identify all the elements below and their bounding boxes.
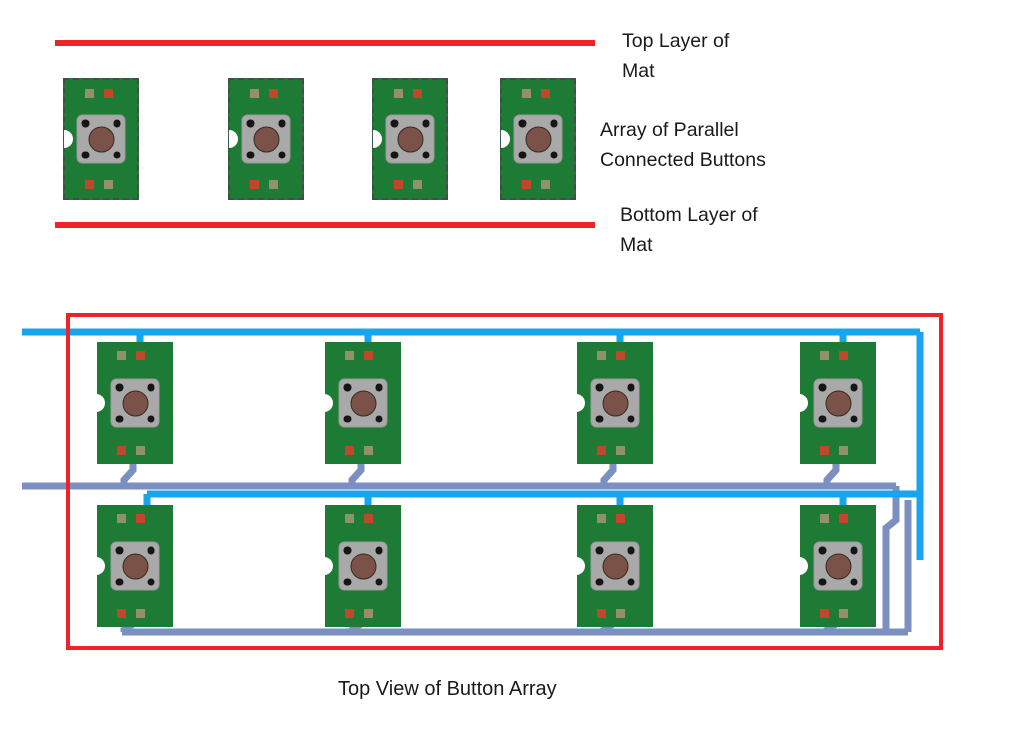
pad-top-left-olive [820, 351, 829, 360]
switch-pin-top-left [819, 384, 827, 392]
switch-cap[interactable] [825, 390, 851, 416]
pad-bottom-right-olive [136, 609, 145, 618]
pad-bottom-right-olive [364, 609, 373, 618]
switch-pin-bottom-right [375, 578, 383, 586]
tactile-switch-body [112, 543, 159, 590]
pad-bottom-left-red [117, 609, 126, 618]
pcb-notch [96, 557, 105, 575]
switch-pin-top-right [627, 547, 635, 555]
pcb-notch [96, 394, 105, 412]
pad-top-left-olive [345, 351, 354, 360]
pad-top-left-olive [820, 514, 829, 523]
pcb-notch [799, 394, 808, 412]
pad-bottom-left-red [117, 446, 126, 455]
pad-bottom-left-red [345, 609, 354, 618]
switch-cap[interactable] [825, 553, 851, 579]
top-view-row2-button-3[interactable] [577, 505, 653, 627]
pad-bottom-left-red [820, 446, 829, 455]
tactile-switch-body [815, 380, 862, 427]
switch-pin-bottom-left [344, 415, 352, 423]
pad-top-left-olive [345, 514, 354, 523]
pad-bottom-left-red [597, 609, 606, 618]
switch-pin-top-left [116, 384, 124, 392]
switch-pin-bottom-left [819, 415, 827, 423]
switch-pin-bottom-left [344, 578, 352, 586]
switch-pin-bottom-right [147, 415, 155, 423]
pcb-notch [576, 394, 585, 412]
pad-top-left-olive [597, 351, 606, 360]
switch-pin-bottom-left [596, 415, 604, 423]
tactile-switch-body [815, 543, 862, 590]
pad-top-right-red [839, 351, 848, 360]
pad-top-right-red [616, 514, 625, 523]
switch-pin-top-right [850, 384, 858, 392]
switch-pin-bottom-right [850, 415, 858, 423]
switch-cap[interactable] [122, 390, 148, 416]
switch-pin-top-right [147, 384, 155, 392]
diagram-caption: Top View of Button Array [338, 675, 557, 703]
tactile-switch-body [592, 543, 639, 590]
pcb-notch [324, 557, 333, 575]
top-view-row2-button-1[interactable] [97, 505, 173, 627]
pad-top-right-red [136, 351, 145, 360]
diagram-canvas: Top Layer of Mat Array of Parallel Conne… [0, 0, 1024, 748]
pad-bottom-right-olive [616, 609, 625, 618]
top-view-row1-button-4[interactable] [800, 342, 876, 464]
switch-cap[interactable] [122, 553, 148, 579]
top-view-row1-button-3[interactable] [577, 342, 653, 464]
switch-pin-top-left [344, 547, 352, 555]
pad-top-right-red [364, 351, 373, 360]
pad-bottom-left-red [345, 446, 354, 455]
tactile-switch-body [592, 380, 639, 427]
top-view-row2-button-4[interactable] [800, 505, 876, 627]
switch-pin-bottom-right [375, 415, 383, 423]
switch-cap[interactable] [350, 390, 376, 416]
switch-cap[interactable] [602, 553, 628, 579]
pcb-notch [324, 394, 333, 412]
pad-bottom-left-red [820, 609, 829, 618]
switch-pin-top-right [375, 547, 383, 555]
pad-bottom-right-olive [616, 446, 625, 455]
switch-pin-bottom-left [116, 578, 124, 586]
pad-top-right-red [364, 514, 373, 523]
switch-pin-bottom-left [819, 578, 827, 586]
switch-pin-top-left [344, 384, 352, 392]
switch-pin-top-left [596, 547, 604, 555]
switch-pin-bottom-left [116, 415, 124, 423]
pad-top-right-red [839, 514, 848, 523]
switch-pin-bottom-left [596, 578, 604, 586]
switch-pin-top-right [375, 384, 383, 392]
pad-top-right-red [616, 351, 625, 360]
switch-pin-bottom-right [627, 578, 635, 586]
top-view-row2-button-2[interactable] [325, 505, 401, 627]
pad-bottom-right-olive [839, 446, 848, 455]
switch-pin-bottom-right [627, 415, 635, 423]
tactile-switch-body [340, 543, 387, 590]
switch-pin-top-left [819, 547, 827, 555]
pad-bottom-left-red [597, 446, 606, 455]
switch-pin-top-right [850, 547, 858, 555]
switch-pin-bottom-right [147, 578, 155, 586]
switch-pin-top-left [116, 547, 124, 555]
top-view-row1-button-2[interactable] [325, 342, 401, 464]
pad-bottom-right-olive [839, 609, 848, 618]
pad-bottom-right-olive [136, 446, 145, 455]
switch-cap[interactable] [350, 553, 376, 579]
pad-top-left-olive [117, 514, 126, 523]
pad-top-left-olive [597, 514, 606, 523]
switch-pin-top-right [627, 384, 635, 392]
switch-pin-bottom-right [850, 578, 858, 586]
switch-cap[interactable] [602, 390, 628, 416]
switch-pin-top-right [147, 547, 155, 555]
pad-top-right-red [136, 514, 145, 523]
pcb-notch [576, 557, 585, 575]
switch-pin-top-left [596, 384, 604, 392]
pad-bottom-right-olive [364, 446, 373, 455]
pad-top-left-olive [117, 351, 126, 360]
top-view-row1-button-1[interactable] [97, 342, 173, 464]
tactile-switch-body [112, 380, 159, 427]
tactile-switch-body [340, 380, 387, 427]
pcb-notch [799, 557, 808, 575]
